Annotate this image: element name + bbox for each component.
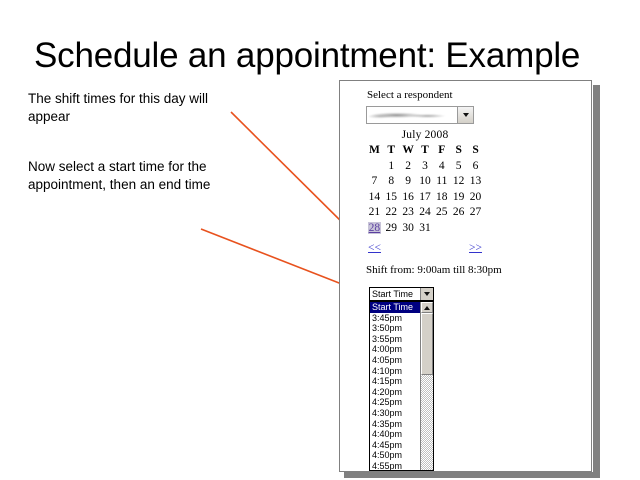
calendar-week-row: 28 29 30 31 [366, 221, 484, 237]
slide-canvas: Schedule an appointment: Example The shi… [0, 0, 640, 480]
calendar-day[interactable]: 10 [417, 174, 434, 190]
respondent-select[interactable] [366, 106, 474, 124]
start-time-selected-value: Start Time [370, 288, 420, 300]
calendar-day[interactable] [450, 221, 467, 237]
calendar-day[interactable]: 24 [417, 205, 434, 221]
calendar-prev-month-link[interactable]: << [368, 242, 381, 254]
start-time-option[interactable]: 4:55pm [370, 461, 420, 470]
start-time-option[interactable]: 4:05pm [370, 355, 420, 366]
calendar-day[interactable]: 29 [383, 221, 400, 237]
calendar-day[interactable]: 13 [467, 174, 484, 190]
page-title: Schedule an appointment: Example [34, 38, 614, 75]
calendar-day[interactable]: 19 [450, 190, 467, 206]
calendar-day[interactable]: 15 [383, 190, 400, 206]
start-time-option[interactable]: 4:50pm [370, 450, 420, 461]
calendar-day[interactable]: 21 [366, 205, 383, 221]
calendar-day[interactable]: 8 [383, 174, 400, 190]
calendar-weekday: F [433, 143, 450, 159]
calendar-weekday: W [400, 143, 417, 159]
scrollbar-thumb[interactable] [421, 313, 433, 375]
calendar-week-row: 1 2 3 4 5 6 [366, 159, 484, 175]
start-time-option[interactable]: 4:35pm [370, 419, 420, 430]
calendar-day[interactable]: 1 [383, 159, 400, 175]
calendar-weekday: T [383, 143, 400, 159]
calendar-navigation: << >> [366, 242, 484, 256]
calendar-day[interactable]: 5 [450, 159, 467, 175]
panel-shadow-right [593, 85, 600, 477]
calendar-week-row: 14 15 16 17 18 19 20 [366, 190, 484, 206]
calendar-day[interactable]: 9 [400, 174, 417, 190]
calendar-day[interactable]: 16 [400, 190, 417, 206]
calendar-day[interactable]: 26 [450, 205, 467, 221]
respondent-label: Select a respondent [367, 89, 453, 101]
chevron-down-icon[interactable] [457, 107, 473, 123]
calendar-day[interactable]: 31 [417, 221, 434, 237]
start-time-option[interactable]: 4:25pm [370, 397, 420, 408]
start-time-option[interactable]: 4:00pm [370, 344, 420, 355]
annotation-select-start-time: Now select a start time for the appointm… [28, 158, 253, 194]
respondent-value-redacted [369, 109, 455, 121]
calendar-day[interactable]: 7 [366, 174, 383, 190]
calendar-weekday-row: M T W T F S S [366, 143, 484, 159]
calendar-day[interactable]: 30 [400, 221, 417, 237]
dropdown-scrollbar[interactable] [420, 302, 433, 470]
calendar-widget: July 2008 M T W T F S S [366, 129, 484, 256]
start-time-option[interactable]: 4:10pm [370, 366, 420, 377]
start-time-option[interactable]: 3:50pm [370, 323, 420, 334]
start-time-option[interactable]: 4:45pm [370, 440, 420, 451]
calendar-day[interactable]: 2 [400, 159, 417, 175]
calendar-next-month-link[interactable]: >> [469, 242, 482, 254]
start-time-option[interactable]: Start Time [370, 302, 420, 313]
triangle-up-icon[interactable] [421, 302, 433, 313]
embedded-screenshot-panel: Select a respondent July 2008 M T W T F … [339, 80, 592, 472]
start-time-select[interactable]: Start Time [369, 287, 434, 301]
calendar-day[interactable]: 4 [433, 159, 450, 175]
calendar-weekday: M [366, 143, 383, 159]
calendar-week-row: 7 8 9 10 11 12 13 [366, 174, 484, 190]
calendar-grid: M T W T F S S 1 2 3 4 [366, 143, 484, 236]
calendar-day[interactable]: 27 [467, 205, 484, 221]
calendar-day[interactable]: 25 [433, 205, 450, 221]
start-time-option[interactable]: 4:15pm [370, 376, 420, 387]
calendar-day[interactable]: 23 [400, 205, 417, 221]
calendar-day[interactable]: 14 [366, 190, 383, 206]
start-time-option[interactable]: 3:55pm [370, 334, 420, 345]
calendar-day[interactable] [366, 159, 383, 175]
calendar-day[interactable]: 3 [417, 159, 434, 175]
calendar-day[interactable]: 6 [467, 159, 484, 175]
calendar-day[interactable]: 20 [467, 190, 484, 206]
start-time-dropdown-list[interactable]: Start Time 3:45pm 3:50pm 3:55pm 4:00pm 4… [369, 301, 434, 471]
calendar-week-row: 21 22 23 24 25 26 27 [366, 205, 484, 221]
calendar-day[interactable] [467, 221, 484, 237]
calendar-day[interactable]: 22 [383, 205, 400, 221]
calendar-day-selected[interactable]: 28 [366, 221, 383, 237]
calendar-day[interactable] [433, 221, 450, 237]
annotation-shift-times: The shift times for this day will appear [28, 90, 243, 126]
calendar-day[interactable]: 12 [450, 174, 467, 190]
chevron-down-icon[interactable] [420, 288, 433, 300]
start-time-option[interactable]: 4:20pm [370, 387, 420, 398]
calendar-weekday: S [467, 143, 484, 159]
panel-shadow-bottom [344, 472, 600, 478]
shift-hours-text: Shift from: 9:00am till 8:30pm [366, 264, 502, 276]
calendar-weekday: S [450, 143, 467, 159]
calendar-day[interactable]: 17 [417, 190, 434, 206]
calendar-weekday: T [417, 143, 434, 159]
calendar-month-label: July 2008 [366, 129, 484, 143]
start-time-option[interactable]: 3:45pm [370, 313, 420, 324]
calendar-day[interactable]: 18 [433, 190, 450, 206]
calendar-day[interactable]: 11 [433, 174, 450, 190]
start-time-option[interactable]: 4:30pm [370, 408, 420, 419]
start-time-option-list: Start Time 3:45pm 3:50pm 3:55pm 4:00pm 4… [370, 302, 420, 470]
start-time-option[interactable]: 4:40pm [370, 429, 420, 440]
